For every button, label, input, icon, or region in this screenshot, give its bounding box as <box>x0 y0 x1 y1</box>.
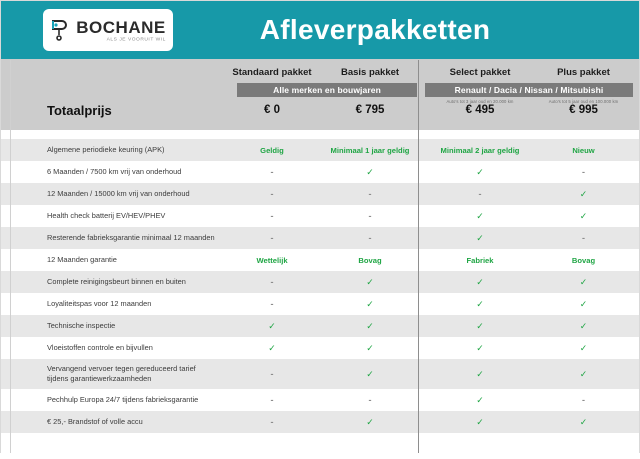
cell-standaard: - <box>217 189 327 199</box>
cell-basis: - <box>321 189 419 199</box>
cell-basis: ✓ <box>321 299 419 310</box>
cell-plus: ✓ <box>531 299 636 310</box>
cell-select: ✓ <box>425 211 535 222</box>
cell-standaard: - <box>217 369 327 379</box>
group-badge-right: Renault / Dacia / Nissan / Mitsubishi <box>425 83 633 97</box>
feature-label: Pechhulp Europa 24/7 tijdens fabrieksgar… <box>47 395 198 405</box>
feature-label: Health check batterij EV/HEV/PHEV <box>47 211 165 221</box>
cell-plus: ✓ <box>531 417 636 428</box>
total-price-standaard: € 0 <box>217 104 327 116</box>
feature-label: Algemene periodieke keuring (APK) <box>47 145 165 155</box>
table-row: 12 Maanden garantieWettelijkBovagFabriek… <box>1 249 639 271</box>
cell-standaard: - <box>217 395 327 405</box>
total-price-label: Totaalprijs <box>47 103 112 118</box>
cell-select: Fabriek <box>425 256 535 265</box>
page-header: BOCHANE ALS JE VOORUIT WIL Afleverpakket… <box>1 1 639 59</box>
feature-label: Vervangend vervoer tegen gereduceerd tar… <box>47 364 196 384</box>
page-title: Afleverpakketten <box>1 14 639 46</box>
cell-select: Minimaal 2 jaar geldig <box>425 146 535 155</box>
cell-standaard: - <box>217 299 327 309</box>
total-price-basis: € 795 <box>321 104 419 116</box>
cell-select: ✓ <box>425 233 535 244</box>
cell-select: ✓ <box>425 299 535 310</box>
cell-basis: ✓ <box>321 343 419 354</box>
comparison-table-body: Algemene periodieke keuring (APK)GeldigM… <box>1 130 639 459</box>
cell-standaard: ✓ <box>217 321 327 332</box>
cell-standaard: - <box>217 277 327 287</box>
column-header-select: Select pakket <box>425 67 535 78</box>
cell-select: - <box>425 189 535 199</box>
cell-plus: ✓ <box>531 277 636 288</box>
cell-plus: ✓ <box>531 369 636 380</box>
column-header-basis: Basis pakket <box>321 67 419 78</box>
column-header-plus: Plus pakket <box>531 67 636 78</box>
cell-select: ✓ <box>425 321 535 332</box>
feature-label: Technische inspectie <box>47 321 115 331</box>
cell-basis: ✓ <box>321 277 419 288</box>
cell-basis: - <box>321 211 419 221</box>
table-row: Resterende fabrieksgarantie minimaal 12 … <box>1 227 639 249</box>
feature-label: Resterende fabrieksgarantie minimaal 12 … <box>47 233 215 243</box>
cell-standaard: Wettelijk <box>217 256 327 265</box>
cell-plus: - <box>531 233 636 243</box>
table-bottom-spacer <box>1 433 639 459</box>
cell-standaard: - <box>217 417 327 427</box>
table-row: Health check batterij EV/HEV/PHEV--✓✓ <box>1 205 639 227</box>
feature-label: Loyaliteitspas voor 12 maanden <box>47 299 151 309</box>
cell-plus: - <box>531 167 636 177</box>
table-row: € 25,- Brandstof of volle accu-✓✓✓ <box>1 411 639 433</box>
table-row: Vervangend vervoer tegen gereduceerd tar… <box>1 359 639 389</box>
feature-label: 12 Maanden garantie <box>47 255 117 265</box>
table-header: Standaard pakket Basis pakket Select pak… <box>1 59 639 130</box>
cell-standaard: - <box>217 211 327 221</box>
table-row: 6 Maanden / 7500 km vrij van onderhoud-✓… <box>1 161 639 183</box>
cell-basis: - <box>321 395 419 405</box>
feature-label: Vloeistoffen controle en bijvullen <box>47 343 153 353</box>
feature-label: 6 Maanden / 7500 km vrij van onderhoud <box>47 167 181 177</box>
feature-label: 12 Maanden / 15000 km vrij van onderhoud <box>47 189 190 199</box>
cell-plus: Bovag <box>531 256 636 265</box>
cell-plus: - <box>531 395 636 405</box>
cell-plus: ✓ <box>531 321 636 332</box>
cell-select: ✓ <box>425 343 535 354</box>
left-edge-rule <box>10 60 11 453</box>
table-row: Vloeistoffen controle en bijvullen✓✓✓✓ <box>1 337 639 359</box>
table-row: Algemene periodieke keuring (APK)GeldigM… <box>1 139 639 161</box>
cell-select: ✓ <box>425 277 535 288</box>
table-row: Pechhulp Europa 24/7 tijdens fabrieksgar… <box>1 389 639 411</box>
cell-basis: ✓ <box>321 321 419 332</box>
table-top-spacer <box>1 130 639 139</box>
cell-standaard: - <box>217 233 327 243</box>
cell-standaard: ✓ <box>217 343 327 354</box>
table-row: Technische inspectie✓✓✓✓ <box>1 315 639 337</box>
cell-standaard: - <box>217 167 327 177</box>
table-row: 12 Maanden / 15000 km vrij van onderhoud… <box>1 183 639 205</box>
afleverpakketten-page: BOCHANE ALS JE VOORUIT WIL Afleverpakket… <box>0 0 640 453</box>
group-badge-left: Alle merken en bouwjaren <box>237 83 417 97</box>
cell-plus: ✓ <box>531 211 636 222</box>
feature-label: Complete reinigingsbeurt binnen en buite… <box>47 277 186 287</box>
cell-basis: ✓ <box>321 417 419 428</box>
cell-standaard: Geldig <box>217 146 327 155</box>
cell-basis: ✓ <box>321 369 419 380</box>
cell-select: ✓ <box>425 417 535 428</box>
cell-plus: ✓ <box>531 189 636 200</box>
cell-basis: - <box>321 233 419 243</box>
cell-basis: ✓ <box>321 167 419 178</box>
cell-basis: Bovag <box>321 256 419 265</box>
total-price-select: € 495 <box>425 104 535 116</box>
column-header-standaard: Standaard pakket <box>217 67 327 78</box>
cell-select: ✓ <box>425 167 535 178</box>
cell-plus: Nieuw <box>531 146 636 155</box>
cell-basis: Minimaal 1 jaar geldig <box>321 146 419 155</box>
table-row: Complete reinigingsbeurt binnen en buite… <box>1 271 639 293</box>
cell-select: ✓ <box>425 369 535 380</box>
cell-plus: ✓ <box>531 343 636 354</box>
total-price-plus: € 995 <box>531 104 636 116</box>
cell-select: ✓ <box>425 395 535 406</box>
table-row: Loyaliteitspas voor 12 maanden-✓✓✓ <box>1 293 639 315</box>
feature-label: € 25,- Brandstof of volle accu <box>47 417 143 427</box>
group-divider <box>418 60 419 453</box>
